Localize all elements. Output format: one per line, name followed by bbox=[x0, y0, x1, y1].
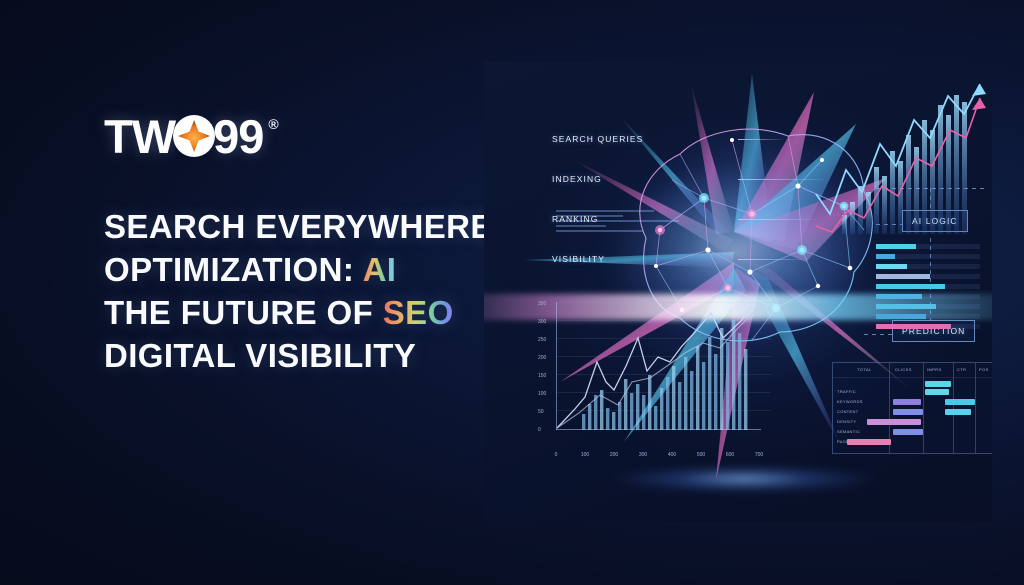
left-content-column: TW 99 ® SEARCH EVERYWHERE OPTIMIZATION: … bbox=[104, 108, 524, 378]
chart-y-tick: 150 bbox=[538, 373, 546, 379]
pipeline-label-text: RANKING bbox=[552, 214, 598, 224]
chart-y-tick: 50 bbox=[538, 409, 544, 415]
logo-wordmark: TW 99 ® bbox=[104, 113, 278, 160]
chart-y-tick: 300 bbox=[538, 319, 546, 325]
matrix-col-header: POS bbox=[979, 367, 989, 372]
chart-x-tick: 100 bbox=[581, 452, 589, 458]
logo-text-right: 99 bbox=[213, 113, 263, 160]
poster-canvas: TW 99 ® SEARCH EVERYWHERE OPTIMIZATION: … bbox=[0, 0, 1024, 585]
combo-chart: 0 50 100 150 200 250 300 350 0 100 200 3… bbox=[556, 302, 771, 447]
chart-x-tick: 0 bbox=[555, 452, 558, 458]
data-bar-row bbox=[876, 244, 980, 249]
combo-chart-plot bbox=[556, 302, 761, 430]
page-title: SEARCH EVERYWHERE OPTIMIZATION: AI THE F… bbox=[104, 206, 524, 378]
matrix-bar bbox=[867, 419, 921, 425]
matrix-col-header: TOTAL bbox=[857, 367, 872, 372]
matrix-row-label: DENSITY bbox=[837, 419, 856, 424]
data-bar-row bbox=[876, 274, 980, 279]
brand-logo: TW 99 ® bbox=[104, 108, 524, 164]
pipeline-label-ranking: RANKING bbox=[552, 214, 732, 224]
pipeline-label-visibility: VISIBILITY bbox=[552, 254, 732, 264]
headline-line-4: DIGITAL VISIBILITY bbox=[104, 335, 524, 378]
leader-line bbox=[738, 139, 782, 140]
pipeline-label-indexing: INDEXING bbox=[552, 174, 732, 184]
headline-line-3: THE FUTURE OF SEO bbox=[104, 292, 524, 335]
pipeline-label-group: SEARCH QUERIES INDEXING RANKING VISIBILI… bbox=[552, 134, 732, 294]
connector-line-prediction-left bbox=[864, 334, 892, 335]
growth-chart bbox=[814, 74, 989, 234]
matrix-col-header: CTR bbox=[957, 367, 966, 372]
matrix-bar bbox=[893, 409, 923, 415]
headline-line-1: SEARCH EVERYWHERE bbox=[104, 206, 524, 249]
chart-y-tick: 350 bbox=[538, 301, 546, 307]
matrix-bar bbox=[893, 429, 923, 435]
headline-accent-seo: SEO bbox=[383, 294, 454, 331]
chart-y-tick: 250 bbox=[538, 337, 546, 343]
chart-y-tick: 0 bbox=[538, 427, 541, 433]
pipeline-label-search-queries: SEARCH QUERIES bbox=[552, 134, 732, 144]
chart-x-tick: 600 bbox=[726, 452, 734, 458]
growth-chart-plot bbox=[814, 74, 989, 234]
matrix-bar bbox=[945, 409, 971, 415]
chart-x-tick: 400 bbox=[668, 452, 676, 458]
matrix-row-label: TRAFFIC bbox=[837, 389, 856, 394]
logo-diamond-star-icon bbox=[173, 115, 215, 157]
matrix-col-header: CLICKS bbox=[895, 367, 912, 372]
chart-y-tick: 100 bbox=[538, 391, 546, 397]
matrix-row-label: SEMANTIC bbox=[837, 429, 860, 434]
matrix-row-label: KEYWORDS bbox=[837, 399, 863, 404]
growth-bars bbox=[842, 95, 967, 234]
data-bar-row bbox=[876, 324, 980, 329]
data-bar-row bbox=[876, 294, 980, 299]
ai-brain-artwork-panel: SEARCH QUERIES INDEXING RANKING VISIBILI… bbox=[484, 62, 992, 522]
matrix-bar bbox=[925, 381, 951, 387]
chart-x-tick: 300 bbox=[639, 452, 647, 458]
headline-accent-ai: AI bbox=[363, 251, 397, 288]
matrix-bar bbox=[925, 389, 949, 395]
matrix-row-label: CONTENT bbox=[837, 409, 858, 414]
chart-x-tick: 200 bbox=[610, 452, 618, 458]
growth-arrow-magenta bbox=[972, 98, 986, 110]
chart-x-tick: 700 bbox=[755, 452, 763, 458]
matrix-bar bbox=[893, 399, 921, 405]
headline-line-2-plain: OPTIMIZATION: bbox=[104, 251, 363, 288]
leader-line bbox=[738, 259, 804, 260]
pipeline-label-text: VISIBILITY bbox=[552, 254, 605, 264]
data-bar-row bbox=[876, 304, 980, 309]
chart-y-tick: 200 bbox=[538, 355, 546, 361]
data-bar-row bbox=[876, 254, 980, 259]
pipeline-label-text: SEARCH QUERIES bbox=[552, 134, 643, 144]
chart-x-tick: 500 bbox=[697, 452, 705, 458]
pipeline-label-text: INDEXING bbox=[552, 174, 602, 184]
matrix-col-header: IMPRS bbox=[927, 367, 942, 372]
reflection-glow bbox=[554, 462, 934, 496]
matrix-bar bbox=[847, 439, 891, 445]
data-bar-list bbox=[876, 244, 980, 334]
headline-line-2: OPTIMIZATION: AI bbox=[104, 249, 524, 292]
logo-text-left: TW bbox=[104, 113, 175, 160]
data-bar-row bbox=[876, 264, 980, 269]
growth-arrow-cyan bbox=[972, 84, 986, 96]
matrix-bar bbox=[945, 399, 975, 405]
leader-line bbox=[738, 179, 824, 180]
leader-line bbox=[738, 219, 816, 220]
registered-trademark-icon: ® bbox=[268, 117, 277, 131]
matrix-chart: TOTAL CLICKS IMPRS CTR POS TRAFFIC KEYWO… bbox=[832, 362, 992, 454]
data-bar-row bbox=[876, 314, 980, 319]
data-bar-row bbox=[876, 284, 980, 289]
headline-line-3-plain: THE FUTURE OF bbox=[104, 294, 383, 331]
